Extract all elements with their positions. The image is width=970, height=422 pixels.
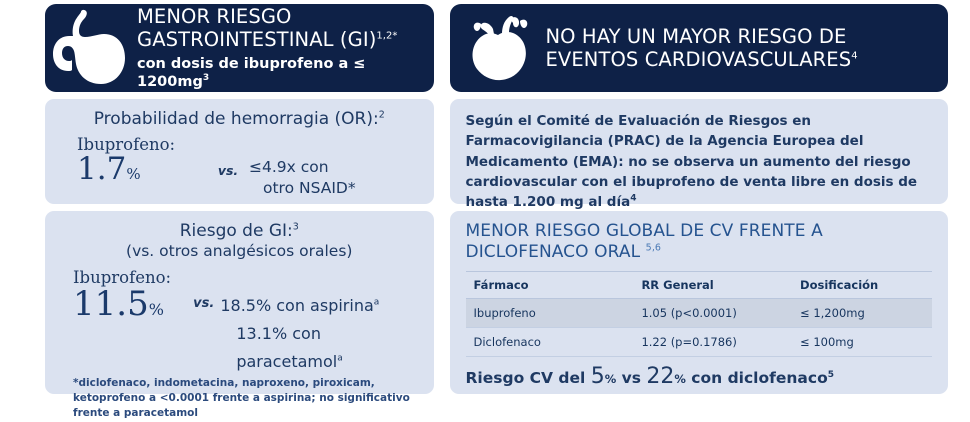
- gi-banner-text: MENOR RIESGO GASTROINTESTINAL (GI)1,2* c…: [137, 5, 424, 91]
- cv-comparison-table: Fármaco RR General Dosificación Ibuprofe…: [466, 271, 933, 357]
- cv-table-header-rr: RR General: [633, 272, 792, 299]
- hemorragia-stat-row: Ibuprofeno: 1.7% vs. ≤4.9x con otro NSAI…: [59, 135, 420, 199]
- cv-row0-farmaco: Ibuprofeno: [466, 299, 634, 328]
- gi-risk-value: 11.5%: [73, 287, 193, 323]
- gi-risk-compare-line1-text: 18.5% con aspirina: [220, 296, 373, 315]
- gi-banner-title: MENOR RIESGO GASTROINTESTINAL (GI)1,2*: [137, 5, 424, 51]
- cv-summary-superscript: 5: [828, 370, 834, 380]
- gi-risk-compare-line1-superscript: a: [374, 298, 380, 308]
- infographic-root: MENOR RIESGO GASTROINTESTINAL (GI)1,2* c…: [0, 0, 970, 416]
- gi-risk-compare-line2-text: 13.1% con paracetamol: [236, 324, 337, 371]
- cv-summary-mid: vs: [616, 369, 646, 387]
- hemorragia-compare-line2: otro NSAID*: [249, 178, 356, 199]
- prac-text: Según el Comité de Evaluación de Riesgos…: [466, 113, 918, 210]
- hemorragia-stat-block: Ibuprofeno: 1.7%: [59, 135, 207, 186]
- table-row: Diclofenaco 1.22 (p=0.1786) ≤ 100mg: [466, 328, 933, 357]
- gi-banner-title-line1: MENOR RIESGO: [137, 5, 292, 28]
- gi-risk-value-unit: %: [149, 300, 164, 319]
- hemorragia-value-unit: %: [126, 165, 140, 183]
- cv-panel-title: MENOR RIESGO GLOBAL DE CV FRENTE A DICLO…: [466, 221, 933, 262]
- cv-panel-title-superscript: 5,6: [646, 242, 661, 253]
- gi-risk-footnote-line3: frente a paracetamol: [73, 406, 420, 421]
- gi-risk-subheading: (vs. otros analgésicos orales): [59, 242, 420, 260]
- hemorragia-heading-text: Probabilidad de hemorragia (OR):: [94, 109, 379, 129]
- right-column: NO HAY UN MAYOR RIESGO DE EVENTOS CARDIO…: [442, 0, 970, 416]
- cv-banner-text: NO HAY UN MAYOR RIESGO DE EVENTOS CARDIO…: [546, 25, 858, 71]
- cv-table-header-farmaco: Fármaco: [466, 272, 634, 299]
- gi-risk-compare: 18.5% con aspirinaa 13.1% con paracetamo…: [220, 268, 419, 376]
- hemorragia-compare: ≤4.9x con otro NSAID*: [249, 135, 356, 199]
- cv-summary-value2: 22: [646, 364, 674, 389]
- cv-banner-title-line2: EVENTOS CARDIOVASCULARES: [546, 48, 852, 71]
- cv-panel-title-line2: DICLOFENACO ORAL: [466, 242, 641, 262]
- cv-row0-dosificacion: ≤ 1,200mg: [792, 299, 932, 328]
- cv-row1-rr: 1.22 (p=0.1786): [633, 328, 792, 357]
- gi-banner-title-line2: GASTROINTESTINAL (GI): [137, 28, 376, 51]
- gi-risk-footnote: *diclofenaco, indometacina, naproxeno, p…: [59, 376, 420, 422]
- cv-row1-dosificacion: ≤ 100mg: [792, 328, 932, 357]
- cv-summary-pct1: %: [605, 372, 617, 386]
- cv-table-panel: MENOR RIESGO GLOBAL DE CV FRENTE A DICLO…: [450, 211, 949, 394]
- hemorragia-heading: Probabilidad de hemorragia (OR):2: [59, 109, 420, 129]
- gi-risk-heading-superscript: 3: [293, 221, 299, 232]
- cv-risk-summary: Riesgo CV del 5% vs 22% con diclofenaco5: [466, 357, 933, 389]
- hemorragia-vs-label: vs.: [207, 135, 249, 178]
- gi-risk-panel: Riesgo de GI:3 (vs. otros analgésicos or…: [45, 211, 434, 394]
- hemorragia-compare-line1: ≤4.9x con: [249, 157, 356, 178]
- cv-banner: NO HAY UN MAYOR RIESGO DE EVENTOS CARDIO…: [450, 4, 949, 92]
- cv-banner-title-line1: NO HAY UN MAYOR RIESGO DE: [546, 25, 847, 48]
- cv-banner-title: NO HAY UN MAYOR RIESGO DE EVENTOS CARDIO…: [546, 25, 858, 71]
- cv-summary-prefix: Riesgo CV del: [466, 369, 591, 387]
- cv-summary-suffix: con diclofenaco: [686, 369, 828, 387]
- gi-banner-title-superscript: 1,2*: [376, 30, 397, 41]
- gi-risk-value-number: 11.5: [73, 284, 149, 324]
- stomach-icon: [51, 6, 137, 90]
- cv-table-body: Ibuprofeno 1.05 (p<0.0001) ≤ 1,200mg Dic…: [466, 299, 933, 357]
- gi-risk-compare-line1: 18.5% con aspirinaa: [220, 292, 419, 320]
- table-row: Ibuprofeno 1.05 (p<0.0001) ≤ 1,200mg: [466, 299, 933, 328]
- cv-panel-title-line1: MENOR RIESGO GLOBAL DE CV FRENTE A: [466, 221, 823, 241]
- prac-panel: Según el Comité de Evaluación de Riesgos…: [450, 99, 949, 204]
- cv-table-header-row: Fármaco RR General Dosificación: [466, 272, 933, 299]
- hemorragia-value-number: 1.7: [77, 151, 126, 187]
- cv-row1-farmaco: Diclofenaco: [466, 328, 634, 357]
- cv-table-header-dosificacion: Dosificación: [792, 272, 932, 299]
- cv-banner-title-superscript: 4: [851, 51, 857, 62]
- gi-risk-stat-block: Ibuprofeno: 11.5%: [59, 268, 193, 323]
- cv-table-head: Fármaco RR General Dosificación: [466, 272, 933, 299]
- gi-risk-vs-label: vs.: [193, 268, 220, 311]
- hemorragia-panel: Probabilidad de hemorragia (OR):2 Ibupro…: [45, 99, 434, 204]
- gi-risk-heading: Riesgo de GI:3: [59, 221, 420, 241]
- left-column: MENOR RIESGO GASTROINTESTINAL (GI)1,2* c…: [0, 0, 434, 416]
- cv-summary-pct2: %: [674, 372, 686, 386]
- gi-banner: MENOR RIESGO GASTROINTESTINAL (GI)1,2* c…: [45, 4, 434, 92]
- gi-risk-heading-text: Riesgo de GI:: [180, 221, 293, 241]
- heart-icon: [468, 13, 534, 83]
- hemorragia-heading-superscript: 2: [379, 109, 385, 120]
- cv-row0-rr: 1.05 (p<0.0001): [633, 299, 792, 328]
- gi-risk-footnote-line2: ketoprofeno a <0.0001 frente a aspirina;…: [73, 391, 420, 406]
- gi-risk-compare-line2-superscript: a: [337, 354, 343, 364]
- gi-banner-subtitle-text: con dosis de ibuprofeno a ≤ 1200mg: [137, 56, 365, 90]
- cv-summary-value1: 5: [591, 364, 605, 389]
- gi-banner-subtitle-superscript: 3: [203, 73, 209, 83]
- prac-text-superscript: 4: [630, 194, 636, 204]
- hemorragia-value: 1.7%: [77, 153, 207, 186]
- gi-risk-footnote-line1: *diclofenaco, indometacina, naproxeno, p…: [73, 376, 420, 391]
- gi-banner-subtitle: con dosis de ibuprofeno a ≤ 1200mg3: [137, 56, 424, 91]
- gi-risk-compare-line2: 13.1% con paracetamola: [220, 320, 419, 376]
- gi-risk-stat-row: Ibuprofeno: 11.5% vs. 18.5% con aspirina…: [59, 268, 420, 376]
